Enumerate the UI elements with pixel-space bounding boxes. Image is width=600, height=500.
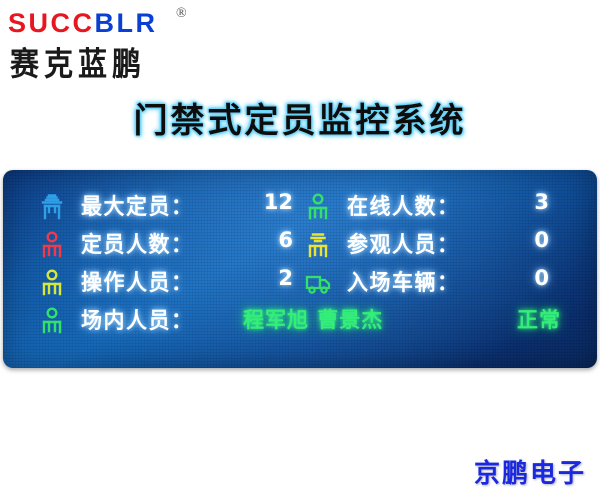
- onsite-names: 程军旭 曹景杰: [243, 304, 383, 334]
- logo-chinese-text: 赛克蓝鹏: [10, 38, 146, 85]
- led-cell-operator-count: 操作人员： 2: [39, 264, 305, 302]
- logo-latin-red: SUCC: [8, 8, 95, 38]
- led-row: 场内人员： 程军旭 曹景杰 正常: [39, 302, 561, 340]
- page-title: 门禁式定员监控系统: [0, 93, 600, 142]
- led-value: 3: [501, 190, 549, 214]
- status-badge: 正常: [469, 304, 561, 334]
- led-cell-onsite-personnel: 场内人员： 程军旭 曹景杰 正常: [39, 302, 561, 340]
- person-icon: [305, 192, 331, 222]
- led-cell-visitor-count: 参观人员： 0: [305, 226, 561, 264]
- logo-latin-text: SUCCBLR: [8, 10, 158, 37]
- led-cell-online-count: 在线人数： 3: [305, 188, 561, 226]
- led-value: 6: [245, 228, 293, 252]
- led-label: 操作人员：: [81, 266, 194, 298]
- footer-watermark: 京鹏电子: [474, 453, 586, 490]
- led-value: 0: [501, 228, 549, 252]
- led-cell-assigned-count: 定员人数： 6: [39, 226, 305, 264]
- logo-latin-blue: BLR: [95, 8, 158, 38]
- company-logo: SUCCBLR ® 赛克蓝鹏: [8, 4, 268, 74]
- led-label: 场内人员：: [81, 304, 194, 336]
- led-value: 0: [501, 266, 549, 290]
- person-icon: [39, 268, 65, 298]
- led-display-panel: 最大定员： 12 在线人数： 3: [3, 170, 597, 368]
- person-icon: [39, 306, 65, 336]
- person-icon: [39, 230, 65, 260]
- person-hardhat-icon: [305, 230, 331, 260]
- led-label: 在线人数：: [347, 190, 460, 222]
- registered-trademark-icon: ®: [176, 6, 187, 22]
- led-row: 定员人数： 6 参观人员：: [39, 226, 561, 264]
- led-label: 入场车辆：: [347, 266, 460, 298]
- led-row: 最大定员： 12 在线人数： 3: [39, 188, 561, 226]
- led-row: 操作人员： 2 入场车辆： 0: [39, 264, 561, 302]
- led-label: 定员人数：: [81, 228, 194, 260]
- led-cell-vehicle-count: 入场车辆： 0: [305, 264, 561, 302]
- led-value: 2: [245, 266, 293, 290]
- led-value: 12: [245, 190, 293, 214]
- led-cell-max-capacity: 最大定员： 12: [39, 188, 305, 226]
- led-label: 最大定员：: [81, 190, 194, 222]
- led-content-area: 最大定员： 12 在线人数： 3: [39, 184, 561, 354]
- led-label: 参观人员：: [347, 228, 460, 260]
- truck-icon: [305, 268, 331, 298]
- person-hardhat-icon: [39, 192, 65, 222]
